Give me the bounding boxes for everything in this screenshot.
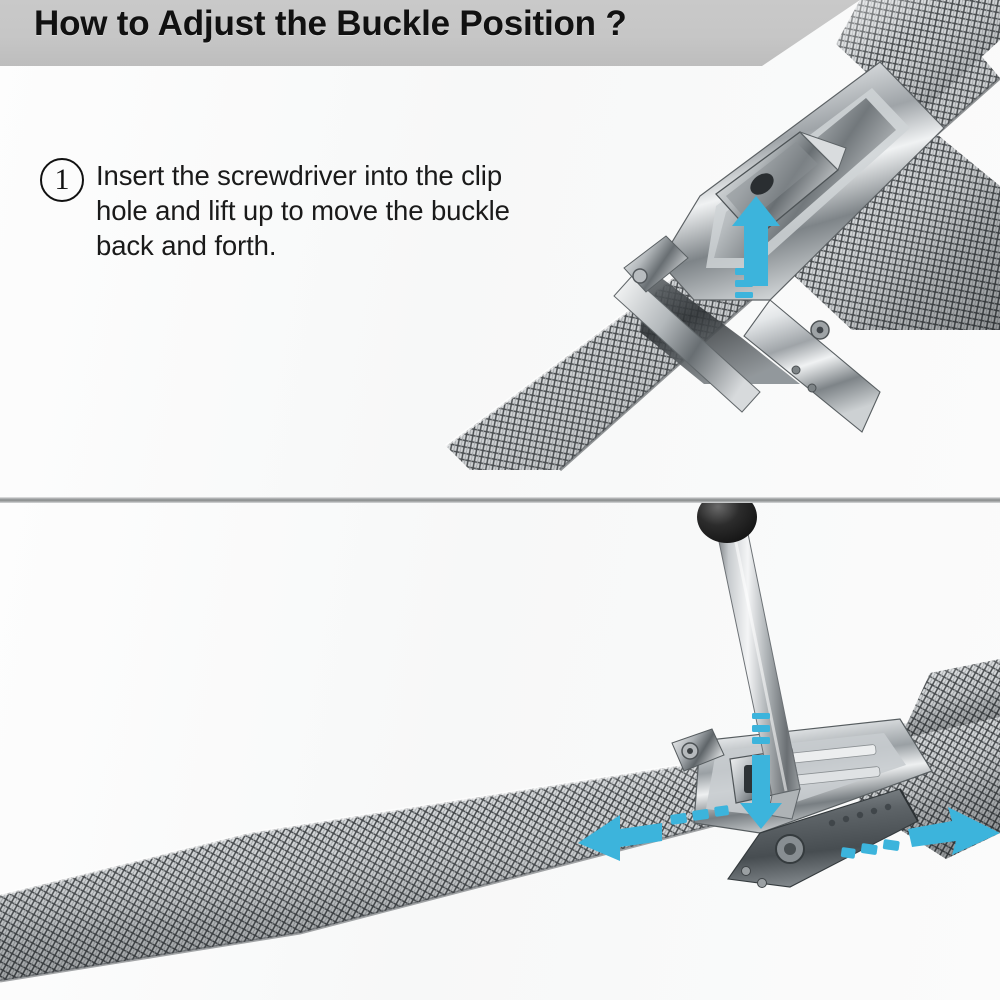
folding-clasp-2 — [672, 719, 932, 888]
instruction-graphic: 1 Insert the screwdriver into the clip h… — [0, 0, 1000, 1000]
step-1-panel: 1 Insert the screwdriver into the clip h… — [0, 0, 1000, 499]
step-1-number: 1 — [40, 158, 84, 202]
step-2-panel: 2 Adjusting the buckle to a suitable car… — [0, 503, 1000, 1000]
step-2-illustration — [0, 503, 1000, 1000]
page-title: How to Adjust the Buckle Position ? — [34, 4, 627, 44]
panel-divider — [0, 497, 1000, 503]
step-1-text: Insert the screwdriver into the clip hol… — [96, 158, 516, 263]
mesh-band-left — [0, 753, 800, 981]
step-1-block: 1 Insert the screwdriver into the clip h… — [40, 158, 516, 263]
